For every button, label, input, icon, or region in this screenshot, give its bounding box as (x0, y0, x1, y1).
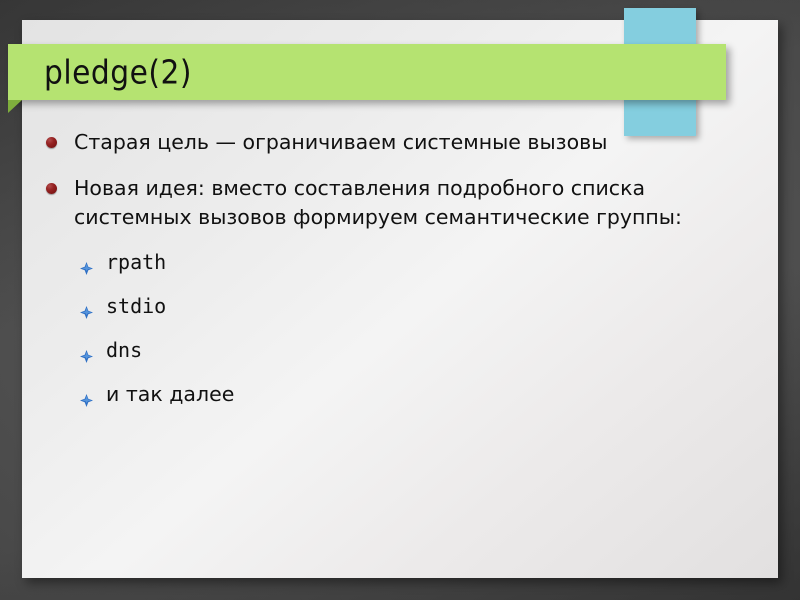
red-sphere-bullet-icon (46, 183, 57, 194)
presentation-stage: pledge(2) Старая цель — ограничиваем сис… (0, 0, 800, 600)
list-item-label: dns (106, 338, 142, 362)
slide-content: Старая цель — ограничиваем системные выз… (22, 128, 778, 426)
sub-bullet-list: rpath stdio dns (22, 249, 778, 408)
blue-diamond-bullet-icon (80, 387, 93, 400)
list-item: rpath (22, 249, 778, 275)
banner-folded-corner-icon (8, 100, 22, 113)
page-title: pledge(2) (44, 53, 192, 92)
list-item-label: rpath (106, 250, 166, 274)
list-item: dns (22, 337, 778, 363)
list-item-label: и так далее (106, 382, 234, 406)
bullet-item: Старая цель — ограничиваем системные выз… (22, 128, 714, 157)
bullet-item-label: Новая идея: вместо составления подробног… (74, 176, 682, 229)
blue-diamond-bullet-icon (80, 299, 93, 312)
title-banner: pledge(2) (8, 44, 726, 100)
list-item: stdio (22, 293, 778, 319)
blue-diamond-bullet-icon (80, 343, 93, 356)
list-item-label: stdio (106, 294, 166, 318)
bullet-item-label: Старая цель — ограничиваем системные выз… (74, 130, 607, 154)
blue-diamond-bullet-icon (80, 255, 93, 268)
list-item: и так далее (22, 381, 778, 408)
red-sphere-bullet-icon (46, 137, 57, 148)
bullet-item: Новая идея: вместо составления подробног… (22, 174, 714, 232)
